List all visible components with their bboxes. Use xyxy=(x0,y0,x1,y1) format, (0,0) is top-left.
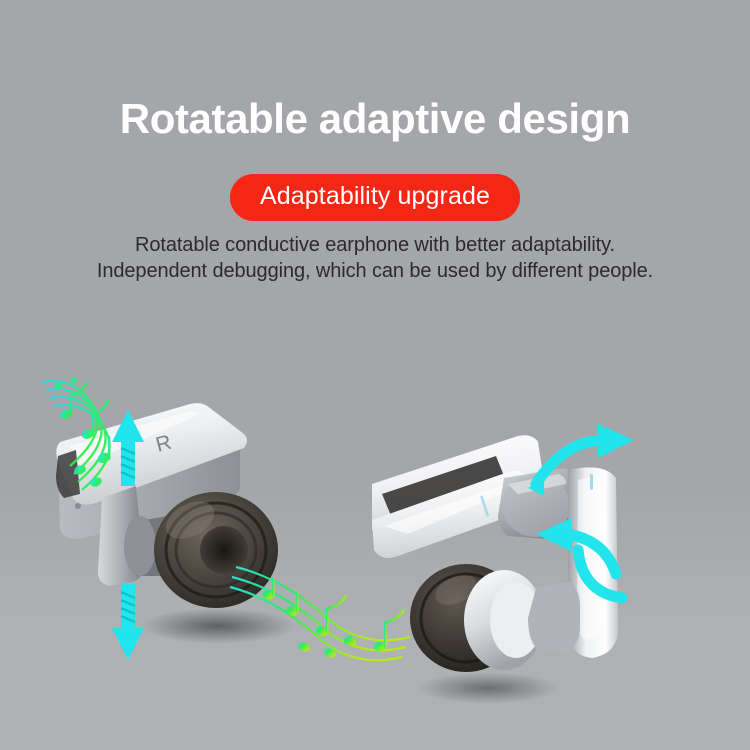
product-showcase: R xyxy=(0,360,750,750)
right-nozzle-stem xyxy=(528,582,580,652)
left-panel-port xyxy=(75,503,81,509)
right-bar-indicator xyxy=(590,474,593,490)
badge-container: Adaptability upgrade xyxy=(0,174,750,221)
vertical-motion-arrow-down xyxy=(112,584,144,660)
description-block: Rotatable conductive earphone with bette… xyxy=(0,232,750,284)
description-line-1: Rotatable conductive earphone with bette… xyxy=(0,232,750,258)
left-collar-face xyxy=(124,516,156,576)
right-driver-assembly xyxy=(410,564,580,672)
promo-banner: Rotatable adaptive design Adaptability u… xyxy=(0,0,750,750)
right-product-photo xyxy=(368,422,648,722)
page-title: Rotatable adaptive design xyxy=(0,94,750,144)
right-product-shadow xyxy=(418,672,558,704)
status-badge: Adaptability upgrade xyxy=(230,174,520,221)
description-line-2: Independent debugging, which can be used… xyxy=(0,258,750,284)
